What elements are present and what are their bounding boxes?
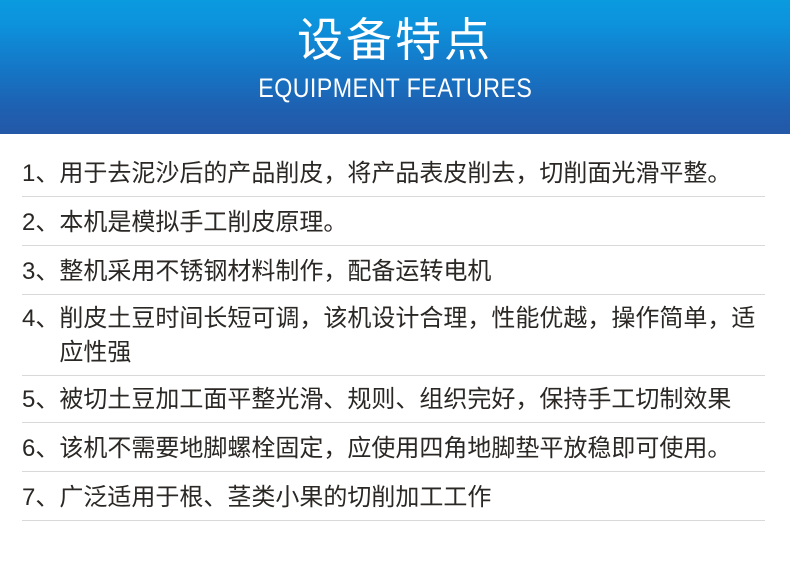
- feature-item-index: 4、: [22, 302, 59, 336]
- feature-item-text: 本机是模拟手工削皮原理。: [59, 206, 765, 240]
- feature-item-index: 6、: [22, 432, 59, 466]
- feature-list-item: 6、 该机不需要地脚螺栓固定，应使用四角地脚垫平放稳即可使用。: [22, 423, 765, 472]
- feature-item-index: 2、: [22, 206, 59, 240]
- feature-item-index: 5、: [22, 383, 59, 417]
- feature-list-item: 5、 被切土豆加工面平整光滑、规则、组织完好，保持手工切制效果: [22, 376, 765, 423]
- feature-item-text: 该机不需要地脚螺栓固定，应使用四角地脚垫平放稳即可使用。: [59, 432, 765, 466]
- feature-list-item: 1、 用于去泥沙后的产品削皮，将产品表皮削去，切削面光滑平整。: [22, 148, 765, 197]
- feature-item-text: 用于去泥沙后的产品削皮，将产品表皮削去，切削面光滑平整。: [59, 157, 765, 191]
- feature-list: 1、 用于去泥沙后的产品削皮，将产品表皮削去，切削面光滑平整。 2、 本机是模拟…: [0, 134, 790, 521]
- feature-list-item: 7、 广泛适用于根、茎类小果的切削加工工作: [22, 472, 765, 521]
- feature-list-item: 4、 削皮土豆时间长短可调，该机设计合理，性能优越，操作简单，适应性强: [22, 295, 765, 376]
- feature-item-text: 被切土豆加工面平整光滑、规则、组织完好，保持手工切制效果: [59, 383, 765, 417]
- equipment-features-page: 设备特点 EQUIPMENT FEATURES 1、 用于去泥沙后的产品削皮，将…: [0, 0, 790, 584]
- page-title: 设备特点: [297, 12, 493, 68]
- page-subtitle: EQUIPMENT FEATURES: [258, 72, 532, 104]
- feature-list-item: 2、 本机是模拟手工削皮原理。: [22, 197, 765, 246]
- feature-list-item: 3、 整机采用不锈钢材料制作，配备运转电机: [22, 246, 765, 295]
- feature-item-index: 3、: [22, 255, 59, 289]
- header-banner: 设备特点 EQUIPMENT FEATURES: [0, 0, 790, 134]
- feature-item-text: 广泛适用于根、茎类小果的切削加工工作: [59, 481, 765, 515]
- feature-item-text: 削皮土豆时间长短可调，该机设计合理，性能优越，操作简单，适应性强: [59, 302, 765, 370]
- feature-item-text: 整机采用不锈钢材料制作，配备运转电机: [59, 255, 765, 289]
- feature-item-index: 1、: [22, 157, 59, 191]
- feature-item-index: 7、: [22, 481, 59, 515]
